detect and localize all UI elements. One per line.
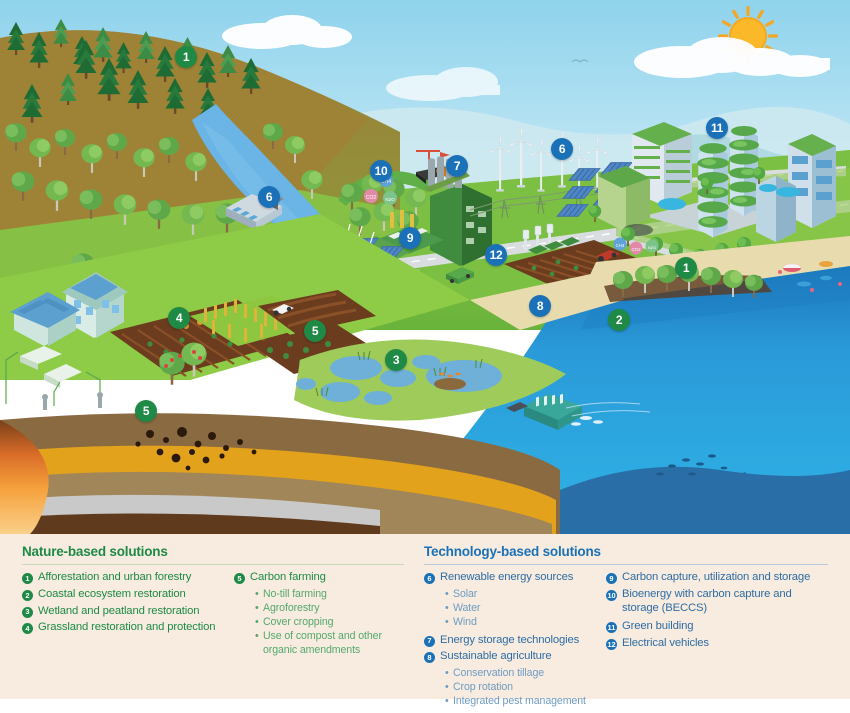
legend-label-1: Afforestation and urban forestry (38, 571, 191, 585)
legend-bullet-9: 9 (606, 573, 617, 584)
legend-item-5[interactable]: 5 Carbon farming (234, 571, 394, 585)
legend-label-4: Grassland restoration and protection (38, 621, 215, 635)
legend-label-8: Sustainable agriculture (440, 650, 551, 664)
legend-title-tech: Technology-based solutions (424, 534, 828, 559)
legend-column-nature: Nature-based solutions 1 Afforestation a… (22, 534, 404, 662)
marker-5-carbon-farming-b[interactable]: 5 (135, 400, 157, 422)
legend-subitems-5: No-till farming Agroforestry Cover cropp… (255, 588, 394, 658)
legend-subitem: Solar (445, 588, 606, 602)
legend-bullet-5: 5 (234, 573, 245, 584)
legend-subitem: Agroforestry (255, 602, 394, 616)
legend-label-11: Green building (622, 620, 693, 634)
marker-11-green-building[interactable]: 11 (706, 117, 728, 139)
marker-7-energy-storage[interactable]: 7 (446, 155, 468, 177)
legend-subitem: No-till farming (255, 588, 394, 602)
legend-subitem: Crop rotation (445, 681, 606, 695)
legend-subitem: Integrated pest management (445, 695, 606, 709)
marker-3-wetland[interactable]: 3 (385, 349, 407, 371)
seabed (560, 467, 850, 534)
legend-nature-col-b: 5 Carbon farming No-till farming Agrofor… (234, 571, 394, 662)
marker-12-ev[interactable]: 12 (485, 244, 507, 266)
legend-item-9[interactable]: 9 Carbon capture, utilization and storag… (606, 571, 824, 585)
legend-divider-nature (22, 564, 404, 565)
legend-subitem: Use of compost and other (255, 630, 394, 644)
legend-bullet-7: 7 (424, 636, 435, 647)
legend-item-10[interactable]: 10 Bioenergy with carbon capture and sto… (606, 588, 824, 616)
legend-tech-col-b: 9 Carbon capture, utilization and storag… (606, 571, 824, 713)
legend-item-11[interactable]: 11 Green building (606, 620, 824, 634)
legend-item-6[interactable]: 6 Renewable energy sources (424, 571, 606, 585)
marker-9-ccus[interactable]: 9 (399, 227, 421, 249)
legend-label-9: Carbon capture, utilization and storage (622, 571, 810, 585)
legend-bullet-3: 3 (22, 607, 33, 618)
legend-bullet-10: 10 (606, 590, 617, 601)
marker-5-carbon-farming-a[interactable]: 5 (304, 320, 326, 342)
legend-tech-col-a: 6 Renewable energy sources Solar Water W… (424, 571, 606, 713)
marker-10-beccs[interactable]: 10 (370, 160, 392, 182)
legend-item-3[interactable]: 3 Wetland and peatland restoration (22, 605, 234, 619)
legend-item-8[interactable]: 8 Sustainable agriculture (424, 650, 606, 664)
legend-label-2: Coastal ecosystem restoration (38, 588, 186, 602)
legend-title-nature: Nature-based solutions (22, 534, 404, 559)
marker-6-wind-solar[interactable]: 6 (551, 138, 573, 160)
legend-bullet-8: 8 (424, 652, 435, 663)
legend-subitems-6: Solar Water Wind (445, 588, 606, 630)
legend-panel: Nature-based solutions 1 Afforestation a… (0, 534, 850, 699)
legend-item-1[interactable]: 1 Afforestation and urban forestry (22, 571, 234, 585)
marker-4-grassland[interactable]: 4 (168, 307, 190, 329)
svg-text:CO2: CO2 (366, 195, 377, 201)
marker-8-agriculture[interactable]: 8 (529, 295, 551, 317)
legend-bullet-11: 11 (606, 622, 617, 633)
legend-label-5: Carbon farming (250, 571, 326, 585)
landscape-illustration: CH4 CO2 N2O (0, 0, 850, 534)
legend-item-2[interactable]: 2 Coastal ecosystem restoration (22, 588, 234, 602)
legend-divider-tech (424, 564, 828, 565)
legend-subitem: Conservation tillage (445, 667, 606, 681)
legend-label-7: Energy storage technologies (440, 634, 579, 648)
svg-text:CH4: CH4 (616, 243, 625, 248)
svg-text:CO2: CO2 (631, 247, 641, 252)
legend-subitem-continuation: organic amendments (255, 644, 394, 658)
svg-text:N2O: N2O (648, 245, 656, 250)
marker-6-hydropower[interactable]: 6 (258, 186, 280, 208)
legend-bullet-12: 12 (606, 639, 617, 650)
marker-1-urban-forestry[interactable]: 1 (675, 257, 697, 279)
legend-subitems-8: Conservation tillage Crop rotation Integ… (445, 667, 606, 709)
legend-item-12[interactable]: 12 Electrical vehicles (606, 637, 824, 651)
legend-label-10: Bioenergy with carbon capture and storag… (622, 588, 824, 616)
landscape-svg: CH4 CO2 N2O (0, 0, 850, 534)
marker-1-forest[interactable]: 1 (175, 46, 197, 68)
legend-subitem: Water (445, 602, 606, 616)
legend-item-4[interactable]: 4 Grassland restoration and protection (22, 621, 234, 635)
legend-bullet-2: 2 (22, 590, 33, 601)
legend-bullet-6: 6 (424, 573, 435, 584)
legend-subitem: Cover cropping (255, 616, 394, 630)
legend-bullet-4: 4 (22, 623, 33, 634)
infographic-root: CH4 CO2 N2O (0, 0, 850, 699)
legend-item-7[interactable]: 7 Energy storage technologies (424, 634, 606, 648)
svg-text:N2O: N2O (385, 197, 395, 202)
legend-label-6: Renewable energy sources (440, 571, 573, 585)
legend-label-3: Wetland and peatland restoration (38, 605, 199, 619)
legend-label-12: Electrical vehicles (622, 637, 709, 651)
legend-bullet-1: 1 (22, 573, 33, 584)
marker-2-coastal[interactable]: 2 (608, 309, 630, 331)
legend-nature-col-a: 1 Afforestation and urban forestry 2 Coa… (22, 571, 234, 662)
legend-column-tech: Technology-based solutions 6 Renewable e… (424, 534, 828, 713)
legend-subitem: Wind (445, 616, 606, 630)
